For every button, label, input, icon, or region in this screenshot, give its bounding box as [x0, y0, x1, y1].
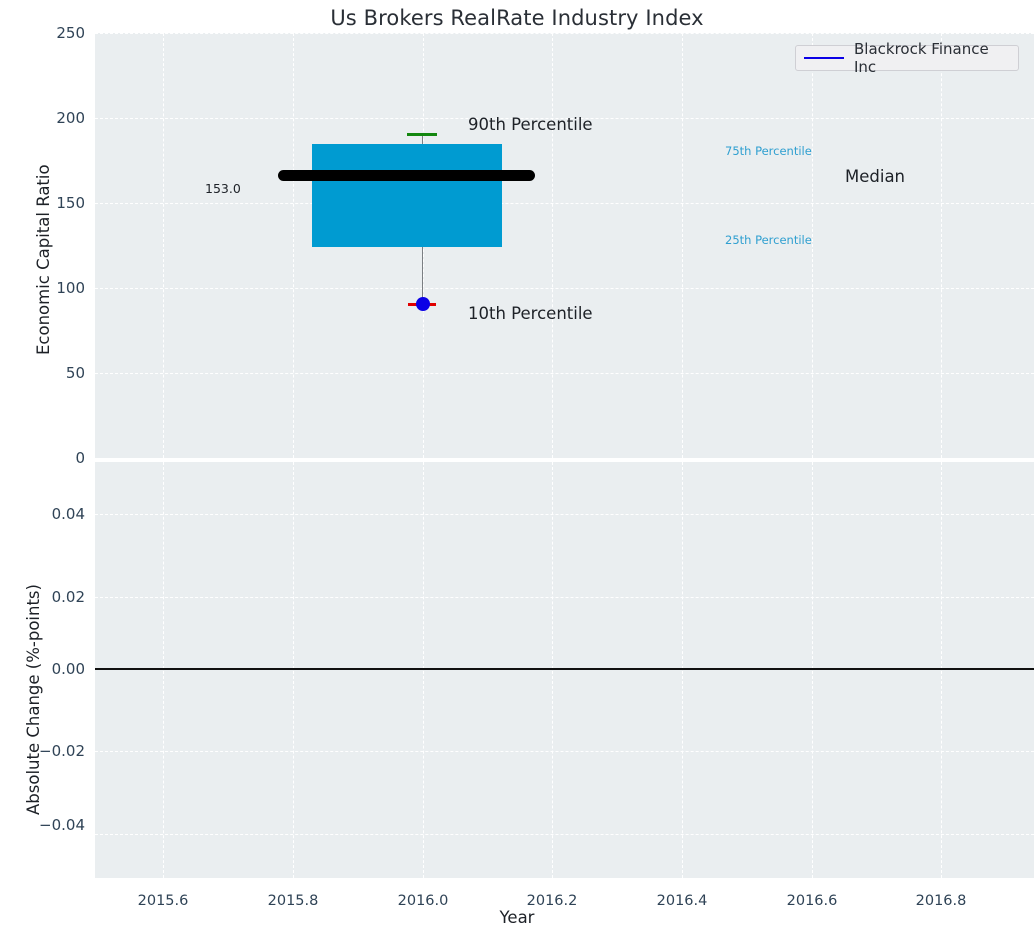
gridline-h-0 — [95, 458, 1034, 459]
panel-absolute-change — [95, 462, 1034, 878]
xtick-2016.4: 2016.4 — [657, 893, 708, 909]
gridline-v-2016.4 — [682, 33, 683, 458]
gridline-v-2016.8 — [941, 33, 942, 458]
gridline-v-2015.6 — [163, 33, 164, 458]
p90-cap — [407, 133, 437, 136]
xlabel-year: Year — [0, 908, 1034, 927]
annotation-median: Median — [845, 167, 905, 186]
annotation-75th-percentile: 75th Percentile — [725, 144, 812, 158]
annotation-10th-percentile: 10th Percentile — [468, 304, 593, 323]
ytick-top-200: 200 — [5, 109, 85, 127]
xtick-2016.8: 2016.8 — [916, 893, 967, 909]
gridline-v-2015.8 — [293, 33, 294, 458]
gridline-h-100 — [95, 288, 1034, 289]
p10-marker-dot — [416, 297, 430, 311]
gridline-v-b-2016.4 — [682, 462, 683, 878]
gridline-v-b-2016.8 — [941, 462, 942, 878]
gridline-v-b-2015.8 — [293, 462, 294, 878]
ytick-bottom-0.00: 0.00 — [5, 660, 85, 678]
ytick-top-250: 250 — [5, 24, 85, 42]
gridline-v-b-2016.6 — [812, 462, 813, 878]
gridline-h-250 — [95, 33, 1034, 34]
panel-economic-capital-ratio: 153.0 90th Percentile Median 10th Percen… — [95, 33, 1034, 458]
ytick-bottom-0.04: 0.04 — [5, 505, 85, 523]
annotation-90th-percentile: 90th Percentile — [468, 115, 593, 134]
legend-entry-label: Blackrock Finance Inc — [854, 40, 1010, 76]
ytick-bottom-0.02: 0.02 — [5, 588, 85, 606]
zero-reference-line — [95, 668, 1034, 670]
median-line — [278, 170, 535, 181]
chart-title: Us Brokers RealRate Industry Index — [0, 6, 1034, 30]
gridline-h-50 — [95, 373, 1034, 374]
ylabel-absolute-change: Absolute Change (%-points) — [24, 584, 43, 815]
xtick-2016.0: 2016.0 — [398, 893, 449, 909]
iqr-box — [312, 144, 502, 247]
legend-line-swatch-icon — [804, 57, 844, 59]
legend[interactable]: Blackrock Finance Inc — [795, 45, 1019, 71]
gridline-h--0.04 — [95, 834, 1034, 835]
ytick-top-50: 50 — [5, 364, 85, 382]
gridline-h-0.04 — [95, 514, 1034, 515]
gridline-v-2016.6 — [812, 33, 813, 458]
gridline-h-150 — [95, 203, 1034, 204]
gridline-v-b-2016.2 — [552, 462, 553, 878]
ytick-bottom--0.02: −0.02 — [5, 742, 85, 760]
gridline-h-0.02 — [95, 597, 1034, 598]
gridline-v-2016.2 — [552, 33, 553, 458]
ytick-top-0: 0 — [5, 449, 85, 467]
xtick-2015.6: 2015.6 — [138, 893, 189, 909]
chart-root: Us Brokers RealRate Industry Index 153.0 — [0, 0, 1034, 942]
xtick-2015.8: 2015.8 — [268, 893, 319, 909]
ytick-bottom--0.04: −0.04 — [5, 816, 85, 834]
gridline-h--0.02 — [95, 751, 1034, 752]
xtick-2016.6: 2016.6 — [787, 893, 838, 909]
xtick-2016.2: 2016.2 — [527, 893, 578, 909]
annotation-25th-percentile: 25th Percentile — [725, 233, 812, 247]
gridline-v-b-2015.6 — [163, 462, 164, 878]
ylabel-economic-capital-ratio: Economic Capital Ratio — [34, 164, 53, 355]
median-value-label: 153.0 — [205, 181, 241, 196]
gridline-v-b-2016.0 — [423, 462, 424, 878]
